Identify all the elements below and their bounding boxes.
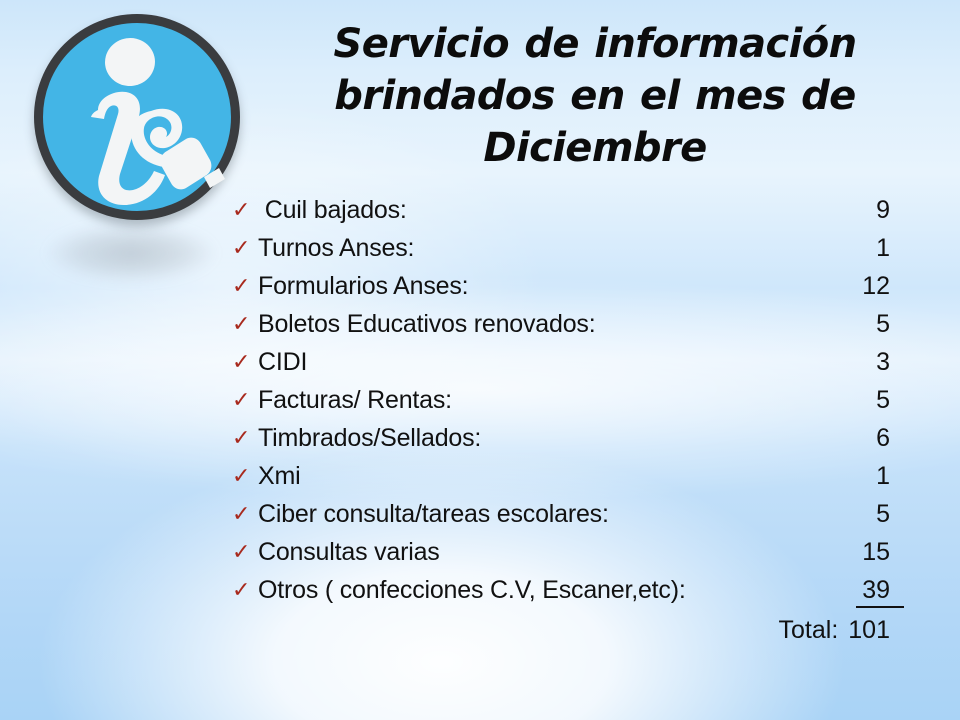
list-item-label: Turnos Anses: — [258, 234, 856, 263]
title-line-2: brindados en el mes de — [250, 70, 940, 122]
service-list: ✓ Cuil bajados: 9 ✓ Turnos Anses: 1 ✓ Fo… — [232, 196, 904, 654]
check-icon: ✓ — [232, 238, 258, 260]
list-item: ✓ Consultas varias 15 — [232, 538, 904, 576]
list-item-value: 9 — [856, 196, 904, 225]
list-item: ✓ Ciber consulta/tareas escolares: 5 — [232, 500, 904, 538]
list-item-value: 15 — [856, 538, 904, 567]
list-item-value: 1 — [856, 234, 904, 263]
total-row: Total: 101 — [232, 616, 904, 654]
list-item-label: Cuil bajados: — [258, 196, 856, 225]
list-item: ✓ CIDI 3 — [232, 348, 904, 386]
slide-title: Servicio de información brindados en el … — [250, 18, 940, 174]
total-label: Total: — [779, 616, 849, 645]
list-item: ✓ Timbrados/Sellados: 6 — [232, 424, 904, 462]
list-item-label: Formularios Anses: — [258, 272, 856, 301]
title-line-1: Servicio de información — [250, 18, 940, 70]
info-i-plug-icon — [34, 14, 240, 220]
check-icon: ✓ — [232, 352, 258, 374]
slide-canvas: Servicio de información brindados en el … — [0, 0, 960, 720]
check-icon: ✓ — [232, 200, 258, 222]
list-item-label: CIDI — [258, 348, 856, 377]
list-item-label: Boletos Educativos renovados: — [258, 310, 856, 339]
list-item-label: Timbrados/Sellados: — [258, 424, 856, 453]
list-item: ✓ Boletos Educativos renovados: 5 — [232, 310, 904, 348]
list-item-label: Otros ( confecciones C.V, Escaner,etc): — [258, 576, 856, 605]
list-item: ✓ Xmi 1 — [232, 462, 904, 500]
check-icon: ✓ — [232, 428, 258, 450]
list-item: ✓ Otros ( confecciones C.V, Escaner,etc)… — [232, 576, 904, 614]
list-item-value: 5 — [856, 500, 904, 529]
logo-drop-shadow — [46, 224, 216, 282]
list-item: ✓ Facturas/ Rentas: 5 — [232, 386, 904, 424]
list-item: ✓ Turnos Anses: 1 — [232, 234, 904, 272]
check-icon: ✓ — [232, 466, 258, 488]
list-item-value: 39 — [856, 576, 904, 608]
check-icon: ✓ — [232, 314, 258, 336]
list-item-value: 5 — [856, 310, 904, 339]
list-item-label: Xmi — [258, 462, 856, 491]
list-item-value: 3 — [856, 348, 904, 377]
list-item-value: 6 — [856, 424, 904, 453]
check-icon: ✓ — [232, 504, 258, 526]
check-icon: ✓ — [232, 390, 258, 412]
list-item-value: 12 — [856, 272, 904, 301]
total-value: 101 — [848, 616, 904, 645]
check-icon: ✓ — [232, 542, 258, 564]
check-icon: ✓ — [232, 580, 258, 602]
list-item-label: Ciber consulta/tareas escolares: — [258, 500, 856, 529]
title-line-3: Diciembre — [250, 122, 940, 174]
list-item-label: Consultas varias — [258, 538, 856, 567]
list-item-value: 5 — [856, 386, 904, 415]
list-item: ✓ Formularios Anses: 12 — [232, 272, 904, 310]
list-item-value: 1 — [856, 462, 904, 491]
information-service-logo — [28, 6, 250, 228]
list-item-label: Facturas/ Rentas: — [258, 386, 856, 415]
list-item: ✓ Cuil bajados: 9 — [232, 196, 904, 234]
check-icon: ✓ — [232, 276, 258, 298]
